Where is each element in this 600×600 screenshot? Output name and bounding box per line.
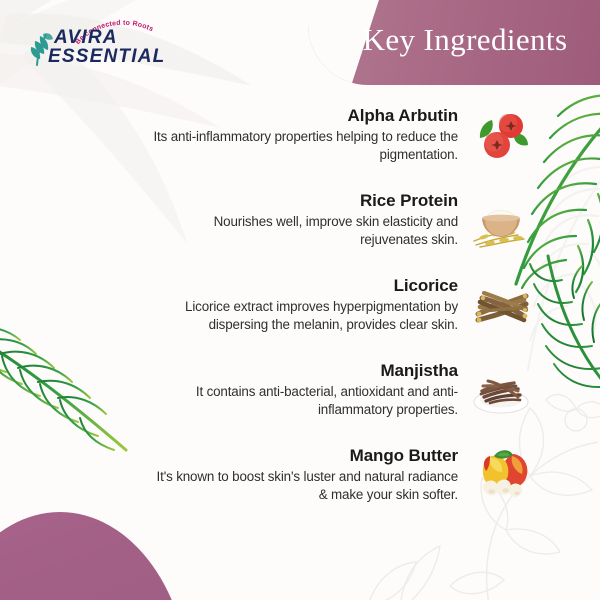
ingredient-title: Manjistha [146, 361, 458, 381]
ingredient-description: It's known to boost skin's luster and na… [146, 468, 458, 503]
ingredient-text: Rice Protein Nourishes well, improve ski… [146, 191, 458, 248]
list-item: Licorice Licorice extract improves hyper… [0, 274, 600, 336]
red-berries-icon [470, 104, 532, 166]
ingredient-description: Licorice extract improves hyperpigmentat… [146, 298, 458, 333]
ingredient-text: Alpha Arbutin Its anti-inflammatory prop… [146, 106, 458, 163]
brand-logo: Be connected to Roots AVIRA ESSENTIAL [26, 24, 166, 74]
list-item: Rice Protein Nourishes well, improve ski… [0, 189, 600, 251]
mango-butter-icon [470, 444, 532, 506]
ingredient-description: Its anti-inflammatory properties helping… [146, 128, 458, 163]
list-item: Alpha Arbutin Its anti-inflammatory prop… [0, 104, 600, 166]
header-banner: Key Ingredients [308, 0, 600, 85]
licorice-roots-icon [470, 274, 532, 336]
page-title: Key Ingredients [308, 22, 600, 58]
ingredient-text: Mango Butter It's known to boost skin's … [146, 446, 458, 503]
list-item: Manjistha It contains anti-bacterial, an… [0, 359, 600, 421]
ingredient-title: Rice Protein [146, 191, 458, 211]
ingredient-title: Licorice [146, 276, 458, 296]
ingredient-description: It contains anti-bacterial, antioxidant … [146, 383, 458, 418]
ingredient-text: Manjistha It contains anti-bacterial, an… [146, 361, 458, 418]
list-item: Mango Butter It's known to boost skin's … [0, 444, 600, 506]
poster-canvas: Key Ingredients Be connected to Roots [0, 0, 600, 600]
ingredient-title: Mango Butter [146, 446, 458, 466]
ingredient-description: Nourishes well, improve skin elasticity … [146, 213, 458, 248]
brand-name-line2: ESSENTIAL [48, 47, 166, 66]
manjistha-roots-plate-icon [470, 359, 532, 421]
ingredient-title: Alpha Arbutin [146, 106, 458, 126]
ingredients-list: Alpha Arbutin Its anti-inflammatory prop… [0, 104, 600, 529]
rice-bowl-icon [470, 189, 532, 251]
ingredient-text: Licorice Licorice extract improves hyper… [146, 276, 458, 333]
brand-name-line1: AVIRA [54, 28, 166, 47]
brand-wordmark: AVIRA ESSENTIAL [54, 28, 166, 67]
